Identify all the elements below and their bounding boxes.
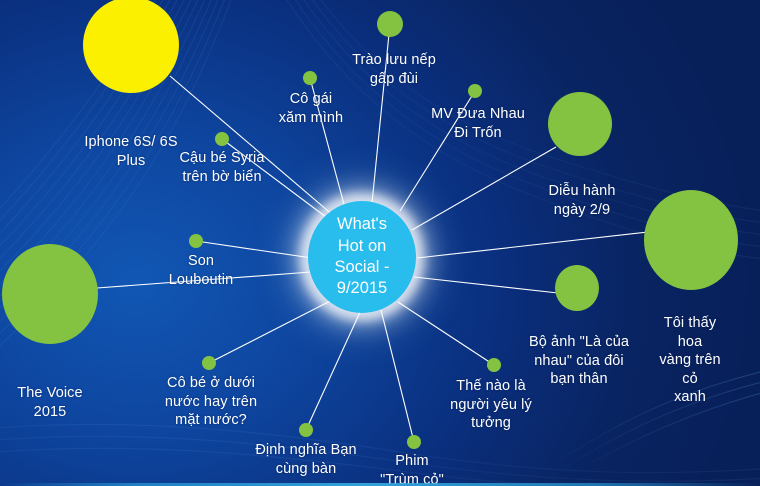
bubble-iphone[interactable] xyxy=(83,0,179,93)
center-label: What's Hot on Social - 9/2015 xyxy=(334,214,389,300)
bubble-co-be-o-duoi-nuoc[interactable] xyxy=(202,356,216,370)
label-iphone: Iphone 6S/ 6S Plus xyxy=(84,133,177,170)
bubble-son-louboutin[interactable] xyxy=(189,234,203,248)
bubble-co-gai-xam-minh[interactable] xyxy=(303,71,317,85)
label-son-louboutin: Son Louboutin xyxy=(169,252,234,289)
edge-dinh-nghia-ban-cung-ban xyxy=(306,310,361,430)
bubble-phim-trum-co[interactable] xyxy=(407,435,421,449)
label-the-nao-la-nguoi-yeu-ly-tuong: Thế nào là người yêu lý tưởng xyxy=(450,377,532,433)
bubble-dinh-nghia-ban-cung-ban[interactable] xyxy=(299,423,313,437)
edge-dieu-hanh-ngay-2-9 xyxy=(412,147,556,230)
label-bo-anh-la-cua-nhau: Bộ ảnh "Là của nhau" của đôi bạn thân xyxy=(529,333,629,389)
label-co-gai-xam-minh: Cô gái xăm mình xyxy=(279,90,343,127)
bubble-the-nao-la-nguoi-yeu-ly-tuong[interactable] xyxy=(487,358,501,372)
label-mv-dua-nhau-di-tron: MV Đưa Nhau Đi Trốn xyxy=(431,105,525,142)
bubble-diagram-canvas: Iphone 6S/ 6S PlusTrào lưu nếp gấp đùiCô… xyxy=(0,0,760,486)
bubble-bo-anh-la-cua-nhau[interactable] xyxy=(555,265,599,311)
label-co-be-o-duoi-nuoc: Cô bé ở dưới nước hay trên mặt nước? xyxy=(165,374,257,430)
label-cau-be-syria: Cậu bé Syria trên bờ biển xyxy=(179,149,264,186)
edge-the-nao-la-nguoi-yeu-ly-tuong xyxy=(398,302,494,365)
label-phim-trum-co: Phim "Trùm cỏ" xyxy=(380,452,444,486)
label-the-voice-2015: The Voice 2015 xyxy=(17,384,82,421)
label-dinh-nghia-ban-cung-ban: Định nghĩa Bạn cùng bàn xyxy=(255,441,356,478)
label-trao-luu-nep-gap-dui: Trào lưu nếp gấp đùi xyxy=(352,51,436,88)
bubble-the-voice-2015[interactable] xyxy=(2,244,98,344)
edge-phim-trum-co xyxy=(381,310,414,442)
bubble-mv-dua-nhau-di-tron[interactable] xyxy=(468,84,482,98)
edge-bo-anh-la-cua-nhau xyxy=(414,277,558,293)
edge-co-be-o-duoi-nuoc xyxy=(209,297,338,363)
label-dieu-hanh-ngay-2-9: Diễu hành ngày 2/9 xyxy=(548,182,615,219)
bubble-trao-luu-nep-gap-dui[interactable] xyxy=(377,11,403,37)
edge-toi-thay-hoa-vang xyxy=(417,232,648,258)
bubble-cau-be-syria[interactable] xyxy=(215,132,229,146)
bubble-dieu-hanh-ngay-2-9[interactable] xyxy=(548,92,612,156)
label-toi-thay-hoa-vang: Tôi thấy hoa vàng trên cỏ xanh xyxy=(655,314,725,407)
center-bubble[interactable]: What's Hot on Social - 9/2015 xyxy=(308,201,416,313)
bubble-toi-thay-hoa-vang[interactable] xyxy=(644,190,738,290)
